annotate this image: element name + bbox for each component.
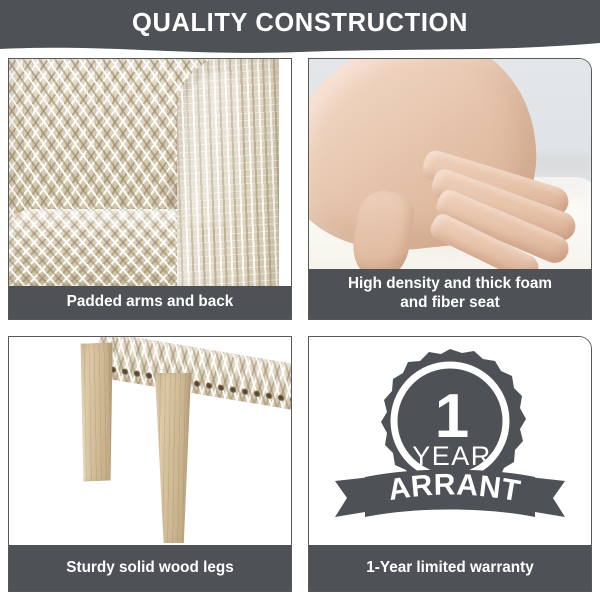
feature-panel-padded-arms: Padded arms and back: [8, 58, 292, 320]
warranty-caption-suffix: -Year limited warranty: [375, 559, 534, 576]
warranty-seal-svg: 1 YEAR WARRANTY: [325, 341, 575, 541]
warranty-badge-image: 1 YEAR WARRANTY: [309, 337, 591, 545]
caption-foam-seat: High density and thick foam and fiber se…: [309, 269, 591, 319]
wood-leg-icon: [9, 337, 291, 545]
header-banner: QUALITY CONSTRUCTION: [0, 0, 600, 58]
image-edge-fade: [279, 59, 291, 287]
caption-warranty: 1-Year limited warranty: [309, 545, 591, 591]
caption-line-1: High density and thick foam: [348, 275, 552, 292]
upholstery-fabric-icon: [9, 59, 291, 287]
page-title: QUALITY CONSTRUCTION: [0, 0, 600, 46]
feature-grid: Padded arms and back: [8, 58, 592, 592]
caption-padded-arms: Padded arms and back: [9, 286, 291, 319]
feature-panel-wood-legs: Sturdy solid wood legs: [8, 336, 292, 592]
caption-text: 1-Year limited warranty: [366, 559, 534, 578]
caption-wood-legs: Sturdy solid wood legs: [9, 545, 291, 591]
foam-seat-image: [309, 59, 591, 287]
wood-leg-back: [79, 342, 118, 481]
padded-arms-image: [9, 59, 291, 287]
quality-construction-infographic: QUALITY CONSTRUCTION Padded arms and bac…: [0, 0, 600, 600]
warranty-seal-icon: 1 YEAR WARRANTY: [309, 337, 591, 545]
arm-highlight: [185, 73, 241, 223]
caption-text: Padded arms and back: [67, 293, 234, 312]
feature-panel-warranty: 1 YEAR WARRANTY: [308, 336, 592, 592]
wood-grain: [155, 373, 191, 543]
caption-text: High density and thick foam and fiber se…: [348, 275, 552, 312]
feature-panel-foam-seat: High density and thick foam and fiber se…: [308, 58, 592, 320]
hand-pressing-foam-icon: [309, 59, 591, 287]
caption-line-2: and fiber seat: [400, 294, 499, 311]
caption-text: Sturdy solid wood legs: [66, 559, 233, 578]
warranty-years-number: 1: [366, 559, 375, 576]
wood-legs-image: [9, 337, 291, 545]
wood-leg-front: [155, 373, 191, 543]
badge-period: YEAR: [412, 441, 492, 471]
wood-grain: [79, 342, 118, 481]
